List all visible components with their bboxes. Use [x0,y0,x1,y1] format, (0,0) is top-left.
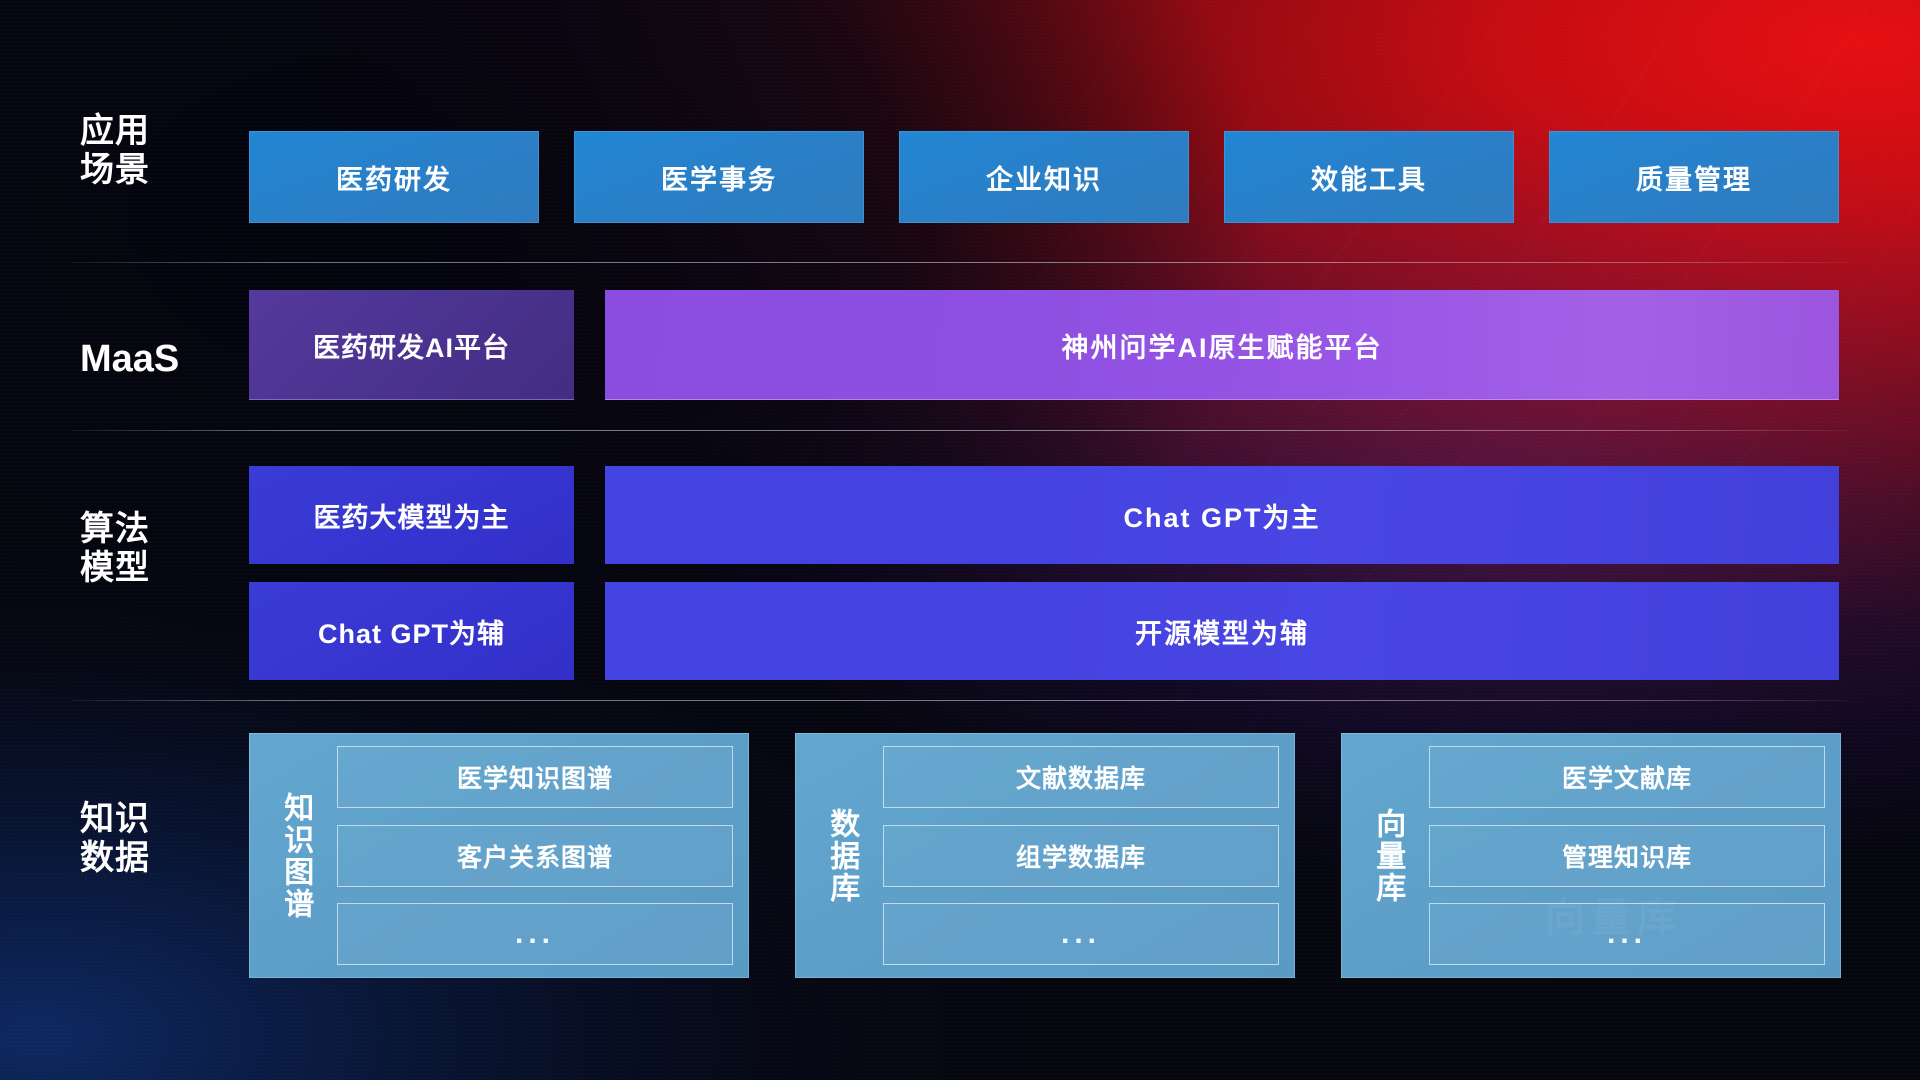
app-box-1[interactable]: 医药研发 [249,131,539,223]
watermark-text: 向量库 [1545,885,1683,943]
row-label-algorithm-model: 算法 模型 [80,510,240,588]
knowledge-item[interactable]: 管理知识库 [1429,825,1825,887]
knowledge-panel-1-title: 知识图谱 [265,746,325,965]
algo-box-left-2[interactable]: Chat GPT为辅 [249,582,574,680]
row-label-line-2: 数据 [80,839,240,878]
knowledge-panel-2-items: 文献数据库 组学数据库 ... [871,746,1279,965]
knowledge-item-more[interactable]: ... [883,903,1279,965]
knowledge-item[interactable]: 医学文献库 [1429,746,1825,808]
diagram-content: 应用 场景 医药研发 医学事务 企业知识 效能工具 质量管理 MaaS 医药研发… [0,0,1920,1080]
app-box-3[interactable]: 企业知识 [899,131,1189,223]
divider-3 [72,700,1848,701]
row-label-line-1: 应用 [80,112,240,151]
row-label-application-scenario: 应用 场景 [80,112,240,190]
row-label-knowledge-data: 知识 数据 [80,800,240,878]
app-box-2[interactable]: 医学事务 [574,131,864,223]
slide-canvas: 应用 场景 医药研发 医学事务 企业知识 效能工具 质量管理 MaaS 医药研发… [0,0,1920,1080]
row-label-line-1: 知识 [80,800,240,839]
knowledge-item[interactable]: 客户关系图谱 [337,825,733,887]
row-label-line-2: 模型 [80,549,240,588]
knowledge-item-more[interactable]: ... [337,903,733,965]
knowledge-panel-2-title: 数据库 [811,746,871,965]
row-label-line-2: 场景 [80,151,240,190]
algo-box-right-1[interactable]: Chat GPT为主 [605,466,1839,564]
maas-box-right[interactable]: 神州问学AI原生赋能平台 [605,290,1839,400]
row-label-line-1: 算法 [80,510,240,549]
row-label-maas-text: MaaS [80,338,240,381]
knowledge-panel-1-items: 医学知识图谱 客户关系图谱 ... [325,746,733,965]
knowledge-panel-3-title: 向量库 [1357,746,1417,965]
row-label-maas: MaaS [80,338,240,381]
knowledge-item[interactable]: 医学知识图谱 [337,746,733,808]
knowledge-panel-2[interactable]: 数据库 文献数据库 组学数据库 ... [795,733,1295,978]
app-box-5[interactable]: 质量管理 [1549,131,1839,223]
knowledge-item[interactable]: 组学数据库 [883,825,1279,887]
app-box-4[interactable]: 效能工具 [1224,131,1514,223]
knowledge-panel-1[interactable]: 知识图谱 医学知识图谱 客户关系图谱 ... [249,733,749,978]
algo-box-left-1[interactable]: 医药大模型为主 [249,466,574,564]
algo-box-right-2[interactable]: 开源模型为辅 [605,582,1839,680]
divider-2 [72,430,1848,431]
maas-box-left[interactable]: 医药研发AI平台 [249,290,574,400]
divider-1 [72,262,1848,263]
knowledge-item[interactable]: 文献数据库 [883,746,1279,808]
